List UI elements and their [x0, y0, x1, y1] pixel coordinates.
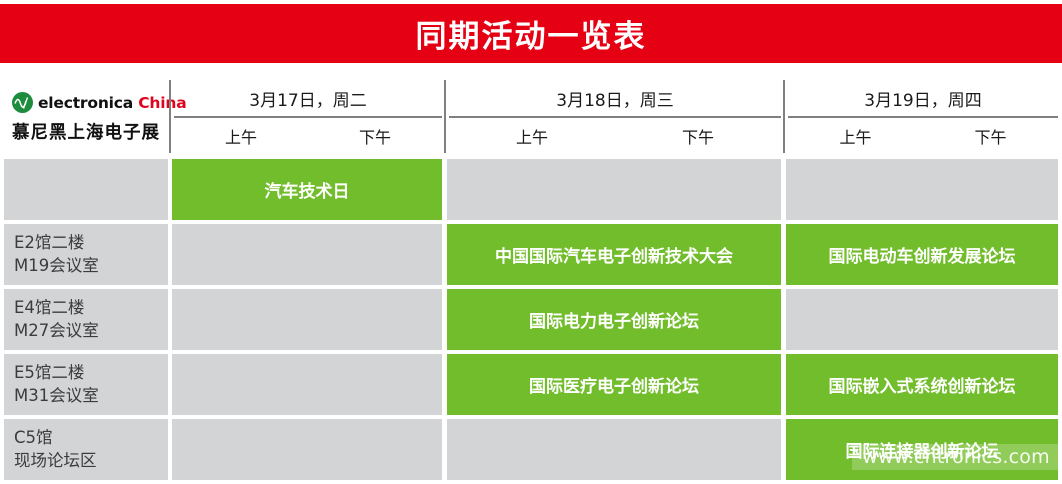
- event-cell-day1: [172, 289, 442, 350]
- day-half-morning: 上午: [449, 118, 615, 153]
- room-label: E5馆二楼 M31会议室: [4, 362, 99, 407]
- room-label-line2: 现场论坛区: [14, 450, 97, 472]
- day-half-afternoon: 下午: [308, 118, 442, 153]
- room-label-line1: E4馆二楼: [14, 297, 99, 319]
- day-half-afternoon: 下午: [615, 118, 781, 153]
- event-cell-day1[interactable]: 汽车技术日: [172, 159, 442, 220]
- event-cell-day3: [786, 159, 1058, 220]
- room-cell: C5馆 现场论坛区: [4, 419, 168, 480]
- event-cell-day2[interactable]: 国际电力电子创新论坛: [447, 289, 781, 350]
- event-cell-day3: [786, 289, 1058, 350]
- room-cell: E4馆二楼 M27会议室: [4, 289, 168, 350]
- event-cell-day3[interactable]: 国际电动车创新发展论坛: [786, 224, 1058, 285]
- logo-subtitle: 慕尼黑上海电子展: [4, 119, 164, 144]
- day-column-3: 3月19日，周四 上午 下午: [788, 80, 1058, 153]
- table-row: E2馆二楼 M19会议室 中国国际汽车电子创新技术大会 国际电动车创新发展论坛: [0, 224, 1062, 285]
- room-cell: [4, 159, 168, 220]
- event-label: 国际电动车创新发展论坛: [823, 242, 1022, 267]
- logo-text: electronica China: [38, 94, 186, 112]
- event-cell-day1: [172, 354, 442, 415]
- page-banner: 同期活动一览表: [0, 4, 1062, 63]
- event-cell-day1: [172, 419, 442, 480]
- table-header: electronica China 慕尼黑上海电子展 3月17日，周二 上午 下…: [0, 78, 1062, 155]
- event-cell-day1: [172, 224, 442, 285]
- room-label-line1: C5馆: [14, 427, 97, 449]
- event-label: 中国国际汽车电子创新技术大会: [489, 242, 739, 267]
- page-title: 同期活动一览表: [416, 11, 647, 56]
- day-half-row: 上午 下午: [449, 118, 781, 153]
- event-label: 国际医疗电子创新论坛: [523, 372, 705, 397]
- header-divider-2: [444, 80, 446, 153]
- room-label-line1: E2馆二楼: [14, 232, 99, 254]
- day-date-label: 3月18日，周三: [449, 80, 781, 116]
- event-cell-day3[interactable]: 国际嵌入式系统创新论坛: [786, 354, 1058, 415]
- brand-logo: electronica China 慕尼黑上海电子展: [4, 80, 164, 153]
- electronica-globe-icon: [12, 92, 33, 113]
- table-row: E5馆二楼 M31会议室 国际医疗电子创新论坛 国际嵌入式系统创新论坛: [0, 354, 1062, 415]
- logo-text-en: electronica: [38, 94, 133, 112]
- header-divider-1: [169, 80, 171, 153]
- globe-wave-glyph: [14, 94, 31, 111]
- day-column-2: 3月18日，周三 上午 下午: [449, 80, 781, 153]
- event-label: 汽车技术日: [259, 177, 356, 202]
- room-cell: E2馆二楼 M19会议室: [4, 224, 168, 285]
- day-date-label: 3月19日，周四: [788, 80, 1058, 116]
- day-half-morning: 上午: [788, 118, 923, 153]
- event-cell-day2[interactable]: 国际医疗电子创新论坛: [447, 354, 781, 415]
- day-half-row: 上午 下午: [174, 118, 442, 153]
- day-column-1: 3月17日，周二 上午 下午: [174, 80, 442, 153]
- room-label-line2: M27会议室: [14, 320, 99, 342]
- event-cell-day2[interactable]: 中国国际汽车电子创新技术大会: [447, 224, 781, 285]
- event-label: 国际连接器创新论坛: [840, 437, 1005, 462]
- table-row: 汽车技术日: [0, 159, 1062, 220]
- table-row: E4馆二楼 M27会议室 国际电力电子创新论坛: [0, 289, 1062, 350]
- event-label: 国际嵌入式系统创新论坛: [823, 372, 1022, 397]
- room-label-line2: M31会议室: [14, 385, 99, 407]
- room-label-line2: M19会议室: [14, 255, 99, 277]
- logo-wordmark-row: electronica China: [4, 90, 164, 116]
- room-label: E2馆二楼 M19会议室: [4, 232, 99, 277]
- event-cell-day2: [447, 419, 781, 480]
- room-label: E4馆二楼 M27会议室: [4, 297, 99, 342]
- table-row: C5馆 现场论坛区 国际连接器创新论坛: [0, 419, 1062, 480]
- event-label: 国际电力电子创新论坛: [523, 307, 705, 332]
- event-cell-day3[interactable]: 国际连接器创新论坛: [786, 419, 1058, 480]
- header-divider-3: [783, 80, 785, 153]
- day-half-morning: 上午: [174, 118, 308, 153]
- day-half-afternoon: 下午: [923, 118, 1058, 153]
- day-half-row: 上午 下午: [788, 118, 1058, 153]
- room-label: C5馆 现场论坛区: [4, 427, 97, 472]
- room-label-line1: E5馆二楼: [14, 362, 99, 384]
- room-cell: E5馆二楼 M31会议室: [4, 354, 168, 415]
- day-date-label: 3月17日，周二: [174, 80, 442, 116]
- schedule-grid: 汽车技术日 E2馆二楼 M19会议室 中国国际汽车电子创新技术大会 国际电动车创…: [0, 159, 1062, 484]
- event-cell-day2: [447, 159, 781, 220]
